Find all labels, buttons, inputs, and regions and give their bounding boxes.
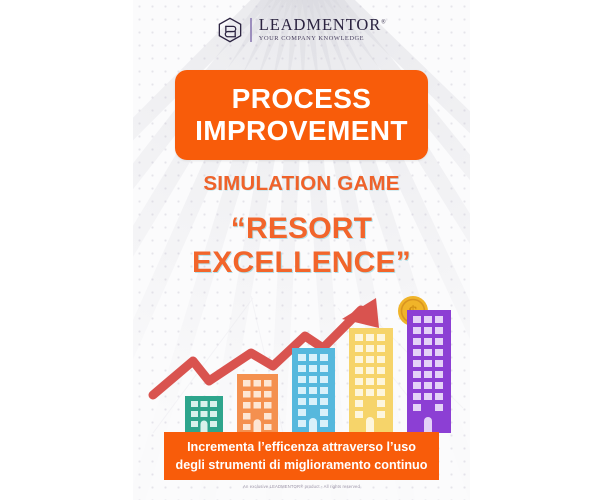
subtitle-simulation-game: SIMULATION GAME [133,172,470,196]
logo-brand-name: LEADMENTOR® [259,17,386,34]
main-title-line2: IMPROVEMENT [195,115,408,147]
main-title-line1: PROCESS [232,83,372,115]
poster-canvas: LEADMENTOR® YOUR COMPANY KNOWLEDGE PROCE… [0,0,600,500]
building-bar-1 [185,396,223,433]
registered-mark-icon: ® [381,20,386,26]
game-title-line2: EXCELLENCE” [133,246,470,280]
tagline-banner: Incrementa l’efficenza attraverso l’uso … [164,432,439,480]
building-bar-3 [292,348,335,433]
poster-card: LEADMENTOR® YOUR COMPANY KNOWLEDGE PROCE… [133,0,470,500]
building-bar-4 [349,328,393,433]
logo-divider [250,18,252,42]
tagline-line2: degli strumenti di miglioramento continu… [176,456,428,474]
game-title: “RESORT EXCELLENCE” [133,212,470,280]
footer-copyright: An exclusive LEADMENTOR® product - All r… [133,484,470,489]
logo-wordmark: LEADMENTOR® YOUR COMPANY KNOWLEDGE [259,17,386,42]
tagline-line1: Incrementa l’efficenza attraverso l’uso [187,438,416,456]
growth-chart-illustration: $ [133,288,470,433]
building-bar-2 [237,374,278,433]
hexagon-knot-logo-icon [217,17,243,43]
brand-logo: LEADMENTOR® YOUR COMPANY KNOWLEDGE [133,17,470,43]
logo-brand-name-text: LEADMENTOR [259,15,381,34]
game-title-line1: “RESORT [133,212,470,246]
logo-brand-tagline: YOUR COMPANY KNOWLEDGE [259,36,386,42]
building-bar-5 [407,310,451,433]
main-title-box: PROCESS IMPROVEMENT [175,70,428,160]
